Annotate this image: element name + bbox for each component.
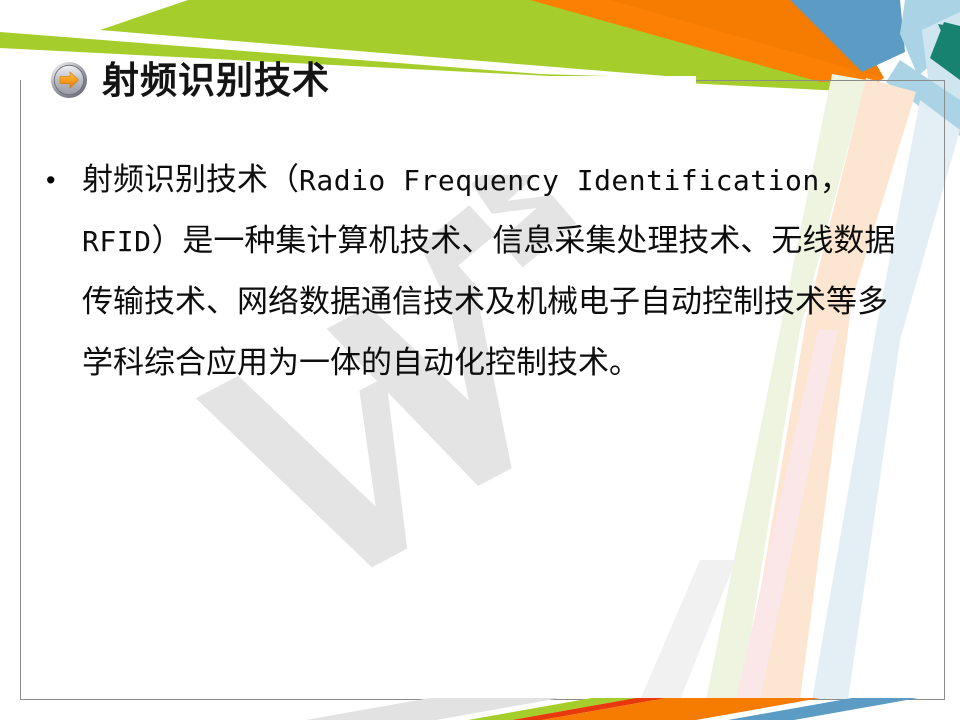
bottom-color-band [0,698,960,720]
page-title: 射频识别技术 [102,62,330,99]
blue-ribbon-icon [790,0,905,72]
body-paragraph: 射频识别技术（Radio Frequency Identification，RF… [82,150,900,394]
orange-ribbon-icon [600,0,884,80]
body-mono-rfid: RFID [82,225,151,258]
light-blue-chevron-icon [900,0,960,76]
teal-ribbon-icon [930,22,960,80]
circular-orange-arrow-icon [50,61,88,99]
body-cjk-comma: ， [820,162,851,198]
body-cjk-tail: ）是一种集计算机技术、信息采集处理技术、无线数据传输技术、网络数据通信技术及机械… [82,223,895,381]
body-cjk-lead: 射频识别技术（ [82,162,299,198]
teal-ribbon-right-icon [938,24,960,74]
band-green-icon [468,698,636,720]
bullet-marker: • [40,150,82,210]
slide-canvas: 射频识别技术 • 射频识别技术（Radio Frequency Identifi… [0,0,960,720]
bullet-list-item: • 射频识别技术（Radio Frequency Identification，… [40,150,900,394]
body-content: • 射频识别技术（Radio Frequency Identification，… [40,150,900,394]
orange-ribbon-wide-icon [530,0,884,82]
slide-title-row: 射频识别技术 [50,52,330,108]
band-blue-icon [728,698,918,720]
body-mono-radio-frequency-identification: Radio Frequency Identification [299,164,820,197]
band-red-icon [512,698,666,720]
band-orange-icon [542,698,820,720]
band-gray-icon [306,698,560,720]
